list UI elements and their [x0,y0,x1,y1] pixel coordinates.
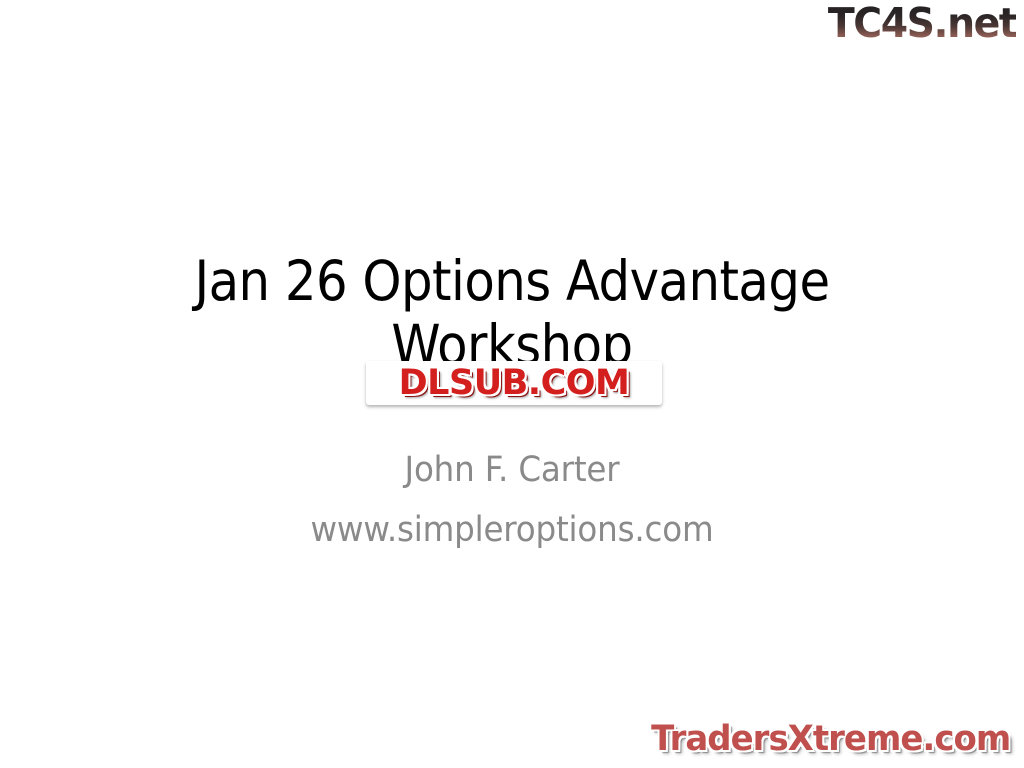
subtitle-website-url: www.simpleroptions.com [125,500,899,560]
dlsub-watermark-logo: DLSUB.COM [366,361,662,405]
subtitle-presenter-name: John F. Carter [125,440,899,500]
dlsub-watermark-text: DLSUB.COM [366,361,662,405]
subtitle-block: John F. Carter www.simpleroptions.com [96,440,928,560]
tradersxtreme-watermark-logo: TradersXtreme.com [651,719,1010,760]
presentation-slide: TC4S.net Jan 26 Options Advantage Worksh… [0,0,1024,768]
slide-title: Jan 26 Options Advantage Workshop [136,250,889,378]
tc4s-watermark-logo: TC4S.net [828,3,1016,44]
title-block: Jan 26 Options Advantage Workshop [96,250,928,378]
